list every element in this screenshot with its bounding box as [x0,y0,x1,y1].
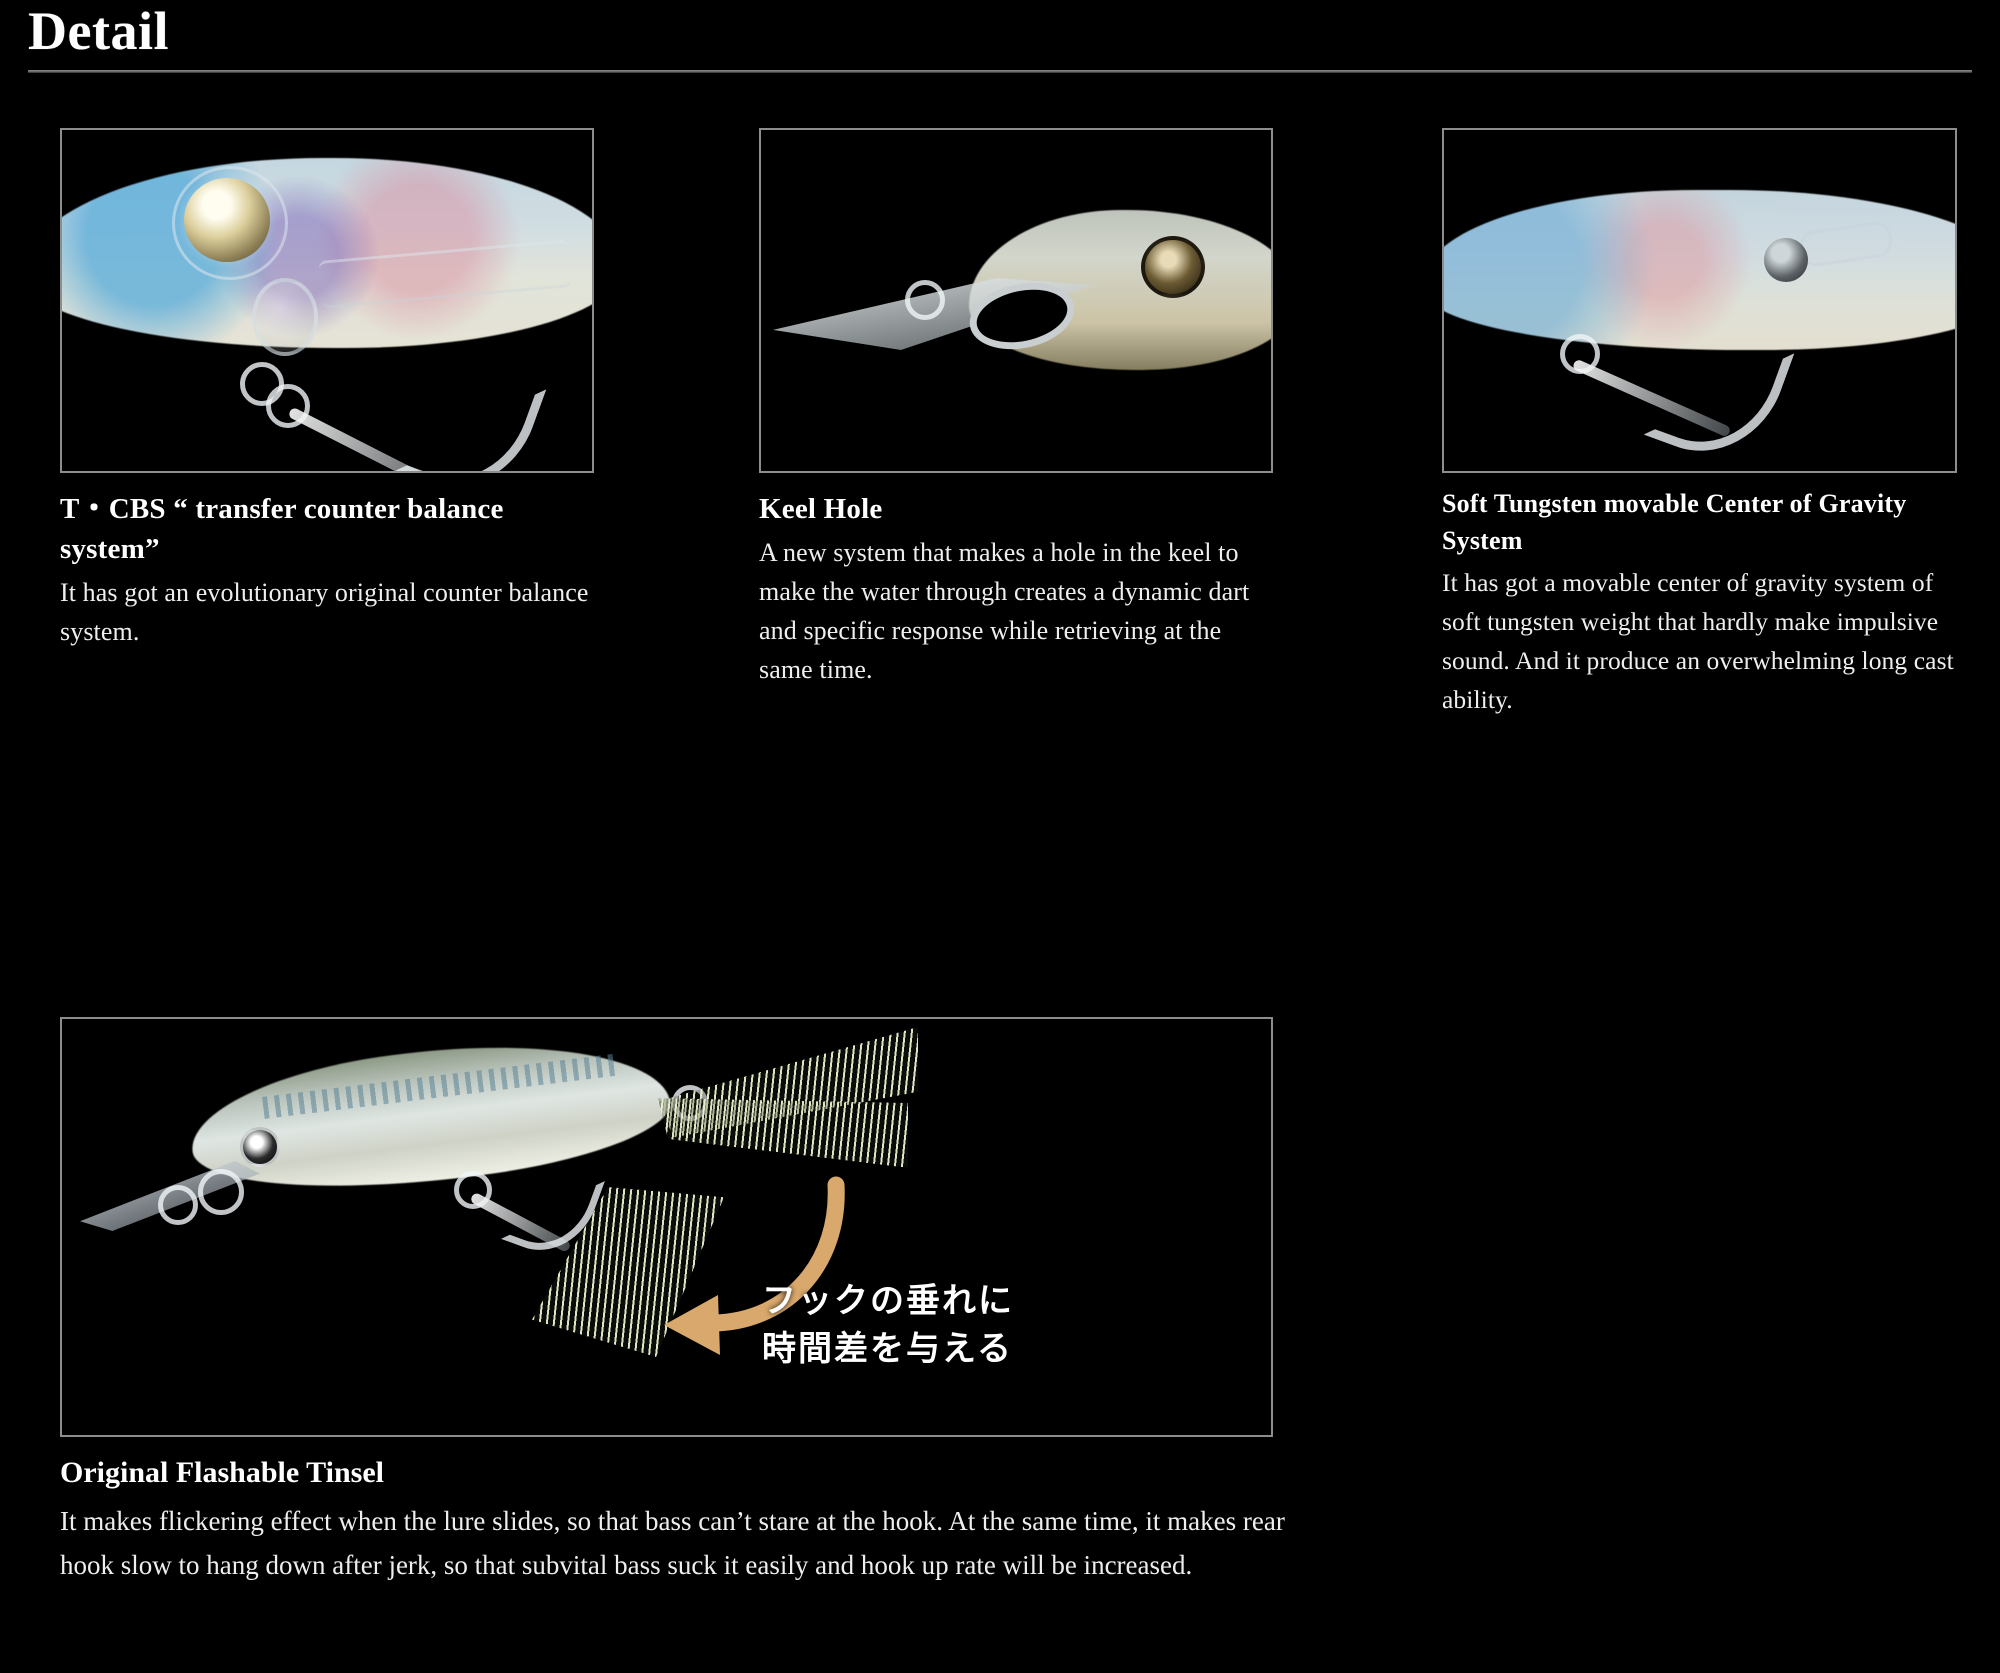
page-title: Detail [28,0,1972,64]
japanese-caption-line1: フックの垂れに [762,1277,1014,1325]
feature-body-flashable-tinsel: It makes flickering effect when the lure… [60,1499,1290,1587]
japanese-caption: フックの垂れに 時間差を与える [762,1277,1014,1373]
japanese-caption-line2: 時間差を与える [762,1325,1014,1373]
feature-heading-keel-hole: Keel Hole [759,489,1277,529]
feature-heading-t-cbs: T・CBS “ transfer counter balance system” [60,489,594,569]
feature-card-t-cbs: T・CBS “ transfer counter balance system”… [60,128,594,719]
lure-eye-graphic [240,1127,280,1167]
line-tie-ring-graphic [198,1169,244,1215]
line-tie-ring-graphic [905,280,945,320]
hook-barb-graphic [396,350,547,473]
feature-cards-row: T・CBS “ transfer counter balance system”… [60,128,1960,719]
lure-eye-graphic [1141,236,1205,298]
feature-body-keel-hole: A new system that makes a hole in the ke… [759,533,1277,689]
title-divider [28,70,1972,73]
feature-heading-soft-tungsten: Soft Tungsten movable Center of Gravity … [1442,485,1960,559]
feature-heading-flashable-tinsel: Original Flashable Tinsel [60,1453,1320,1493]
feature-image-t-cbs [60,128,594,473]
feature-image-flashable-tinsel: フックの垂れに 時間差を与える [60,1017,1273,1437]
ball-bearing-graphic [184,178,270,262]
feature-body-soft-tungsten: It has got a movable center of gravity s… [1442,563,1960,719]
feature-card-keel-hole: Keel Hole A new system that makes a hole… [759,128,1277,719]
feature-card-soft-tungsten: Soft Tungsten movable Center of Gravity … [1442,128,1960,719]
feature-image-soft-tungsten [1442,128,1957,473]
weight-chamber-graphic [252,278,318,356]
bottom-feature-section: フックの垂れに 時間差を与える Original Flashable Tinse… [60,1017,1320,1587]
feature-image-keel-hole [759,128,1273,473]
tungsten-weight-graphic [1764,238,1808,282]
feature-body-t-cbs: It has got an evolutionary original coun… [60,573,594,651]
page-header: Detail [28,0,1972,73]
front-split-ring-graphic [158,1185,198,1225]
